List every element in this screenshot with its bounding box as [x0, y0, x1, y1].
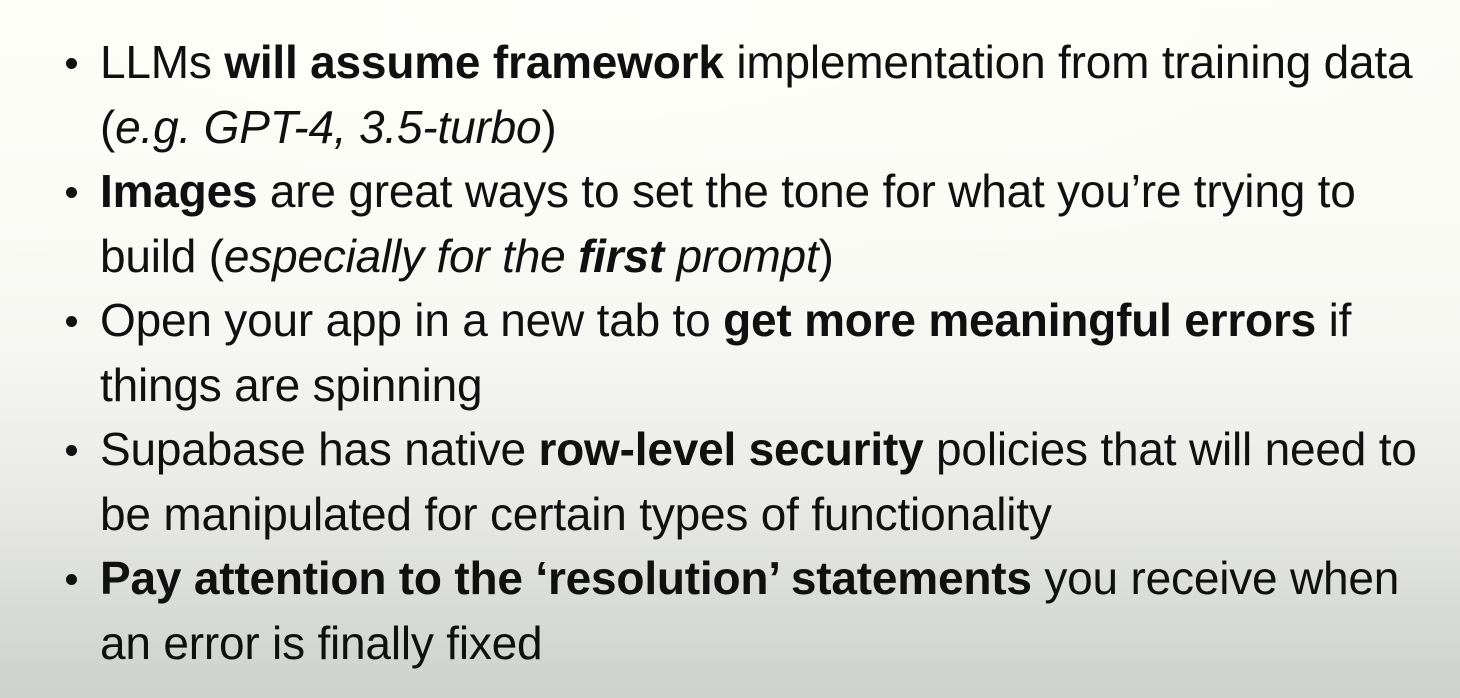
bullet-llms-assume-framework: LLMs will assume framework implementatio… [100, 30, 1450, 159]
bullet-images-set-tone: Images are great ways to set the tone fo… [100, 159, 1450, 288]
bullet-open-app-new-tab: Open your app in a new tab to get more m… [100, 288, 1450, 417]
bullet-point-icon [66, 445, 77, 456]
bullet-resolution-statements: Pay attention to the ‘resolution’ statem… [100, 546, 1450, 675]
bullet-point-icon [66, 316, 77, 327]
presentation-slide: LLMs will assume framework implementatio… [0, 0, 1460, 698]
list-item: Supabase has native row-level security p… [58, 417, 1450, 546]
bullet-point-icon [66, 187, 77, 198]
list-item: Images are great ways to set the tone fo… [58, 159, 1450, 288]
list-item: Pay attention to the ‘resolution’ statem… [58, 546, 1450, 675]
bullet-supabase-row-level-security: Supabase has native row-level security p… [100, 417, 1450, 546]
bullet-list: LLMs will assume framework implementatio… [0, 0, 1460, 675]
bullet-point-icon [66, 574, 77, 585]
list-item: Open your app in a new tab to get more m… [58, 288, 1450, 417]
bullet-point-icon [66, 58, 77, 69]
list-item: LLMs will assume framework implementatio… [58, 30, 1450, 159]
